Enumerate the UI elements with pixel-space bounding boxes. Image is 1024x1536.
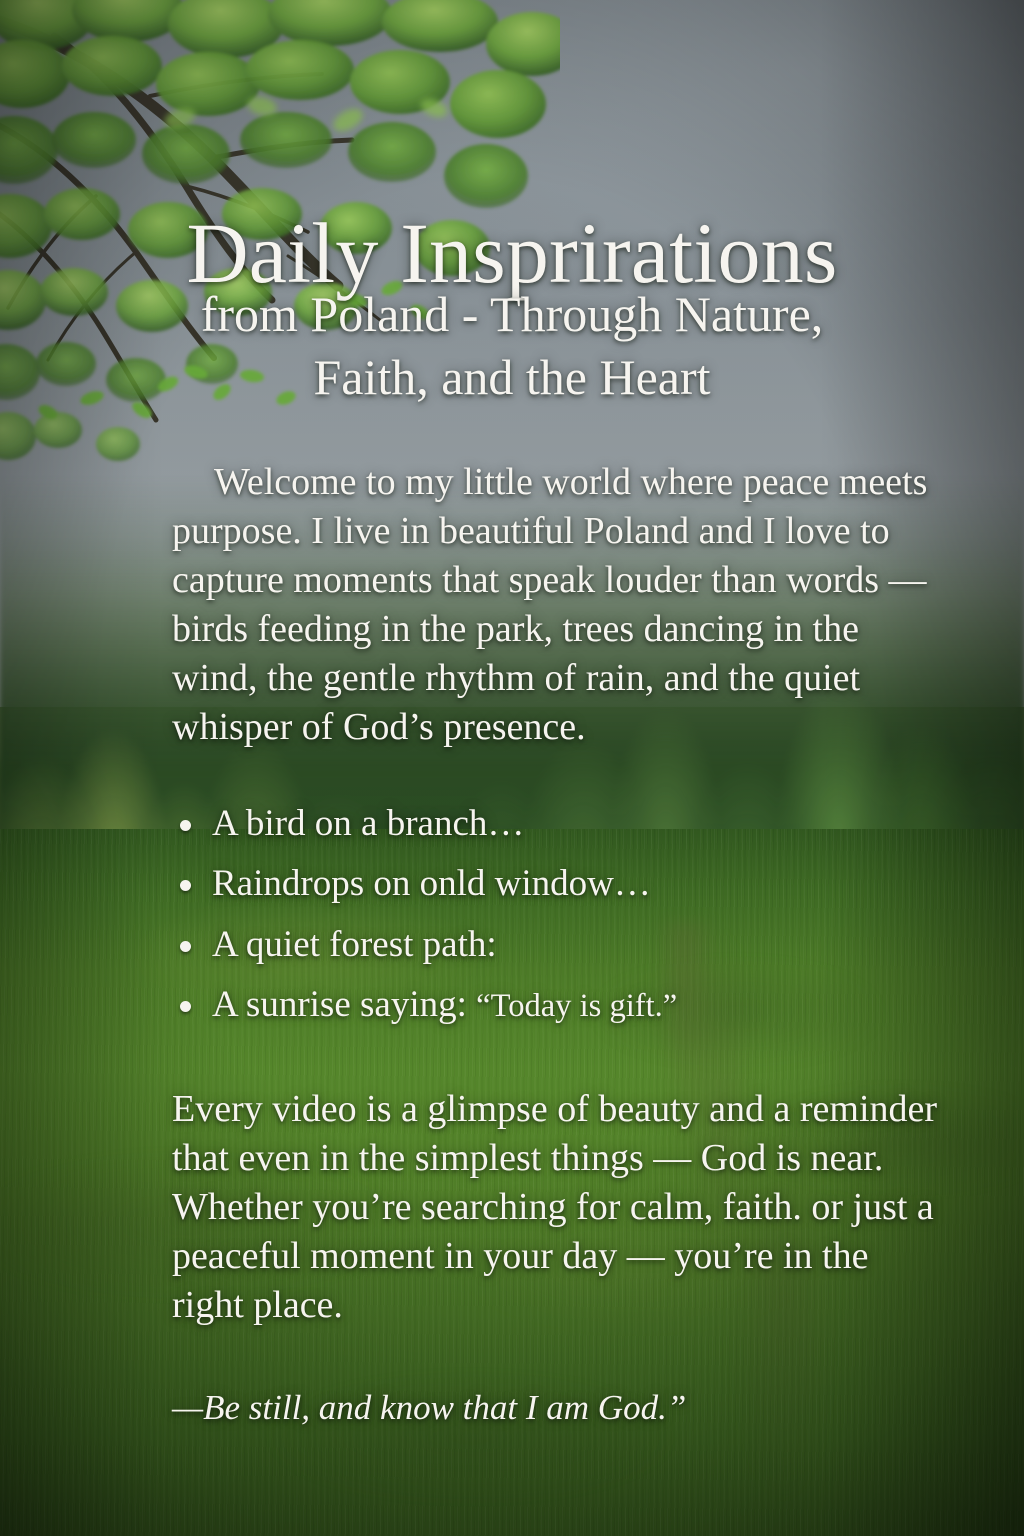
list-item-text: A quiet forest path: — [212, 924, 497, 965]
subtitle-line-1: from Poland - Through Nature, — [90, 283, 934, 346]
list-item: A sunrise saying: “Today is gift.” — [172, 980, 944, 1029]
body-text-block: Welcome to my little world where peace m… — [172, 458, 944, 1465]
poster-content: Daily Insprirations from Poland - Throug… — [0, 0, 1024, 1536]
scripture-verse: —Be still, and know that I am God.” — [172, 1385, 944, 1431]
list-item: A quiet forest path: — [172, 920, 944, 969]
list-item: Raindrops on onld window… — [172, 859, 944, 908]
list-item-text: A sunrise saying: — [212, 984, 476, 1025]
closing-paragraph: Every video is a glimpse of beauty and a… — [172, 1085, 944, 1330]
list-item-text: Raindrops on onld window… — [212, 863, 651, 904]
intro-paragraph: Welcome to my little world where peace m… — [172, 458, 944, 752]
list-item-text: A bird on a branch… — [212, 803, 524, 844]
list-item: A bird on a branch… — [172, 799, 944, 848]
list-item-quote: “Today is gift.” — [476, 988, 677, 1024]
page-subtitle: from Poland - Through Nature, Faith, and… — [90, 283, 934, 409]
poster-canvas: Daily Insprirations from Poland - Throug… — [0, 0, 1024, 1536]
subtitle-line-2: Faith, and the Heart — [90, 346, 934, 409]
highlights-list: A bird on a branch… Raindrops on onld wi… — [172, 799, 944, 1029]
